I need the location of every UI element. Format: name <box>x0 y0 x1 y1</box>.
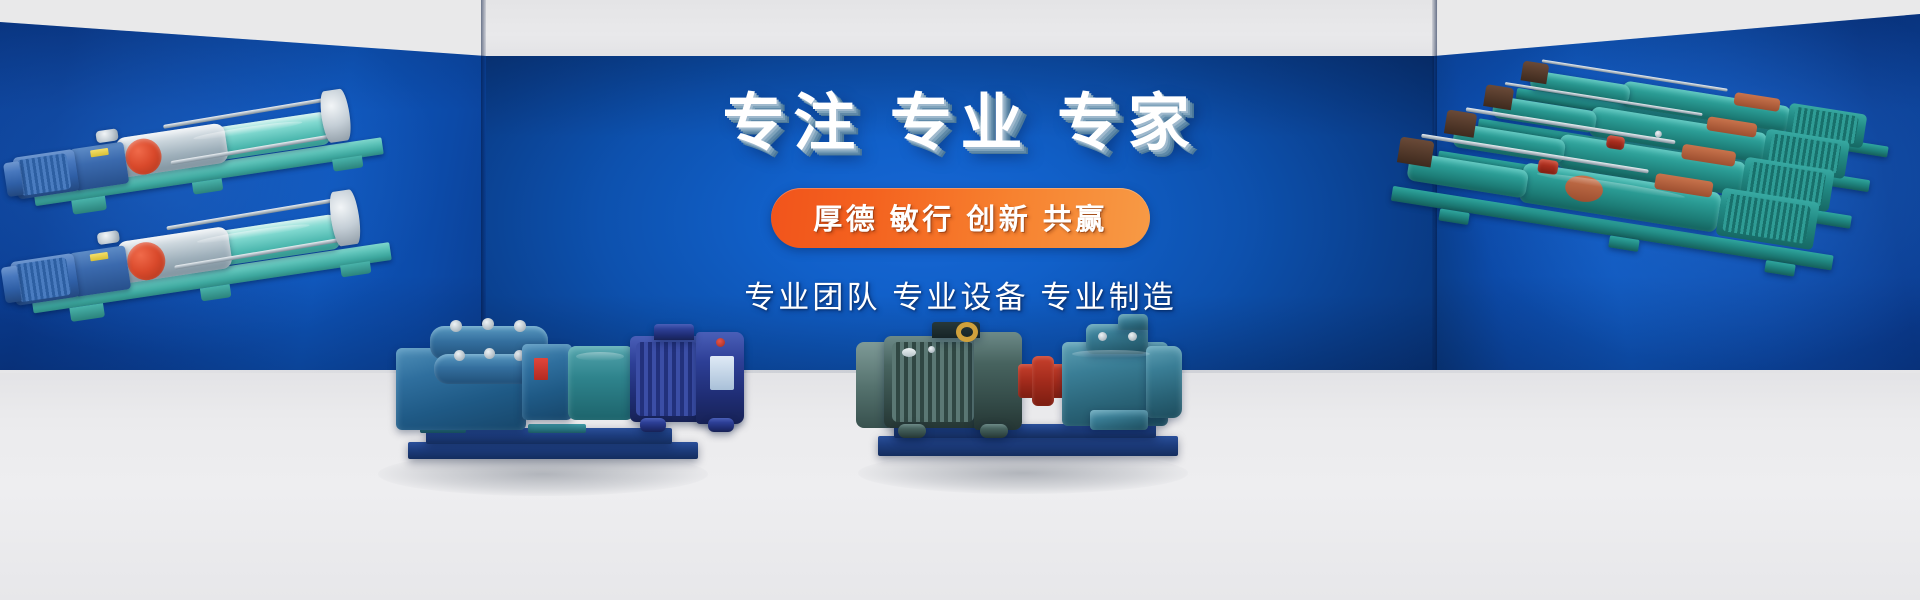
tagline: 专业团队 专业设备 专业制造 <box>744 272 1177 317</box>
page-title: 专注 专业 专家 <box>723 72 1199 162</box>
slogan-badge: 厚德 敏行 创新 共赢 <box>771 188 1149 248</box>
motor-pump-grey-green <box>850 306 1200 481</box>
promo-banner: 专注 专业 专家 厚德 敏行 创新 共赢 专业团队 专业设备 专业制造 <box>0 0 1920 600</box>
triple-screw-pump-blue <box>378 300 758 480</box>
banner-copy: 专注 专业 专家 厚德 敏行 创新 共赢 专业团队 专业设备 专业制造 <box>483 50 1438 300</box>
